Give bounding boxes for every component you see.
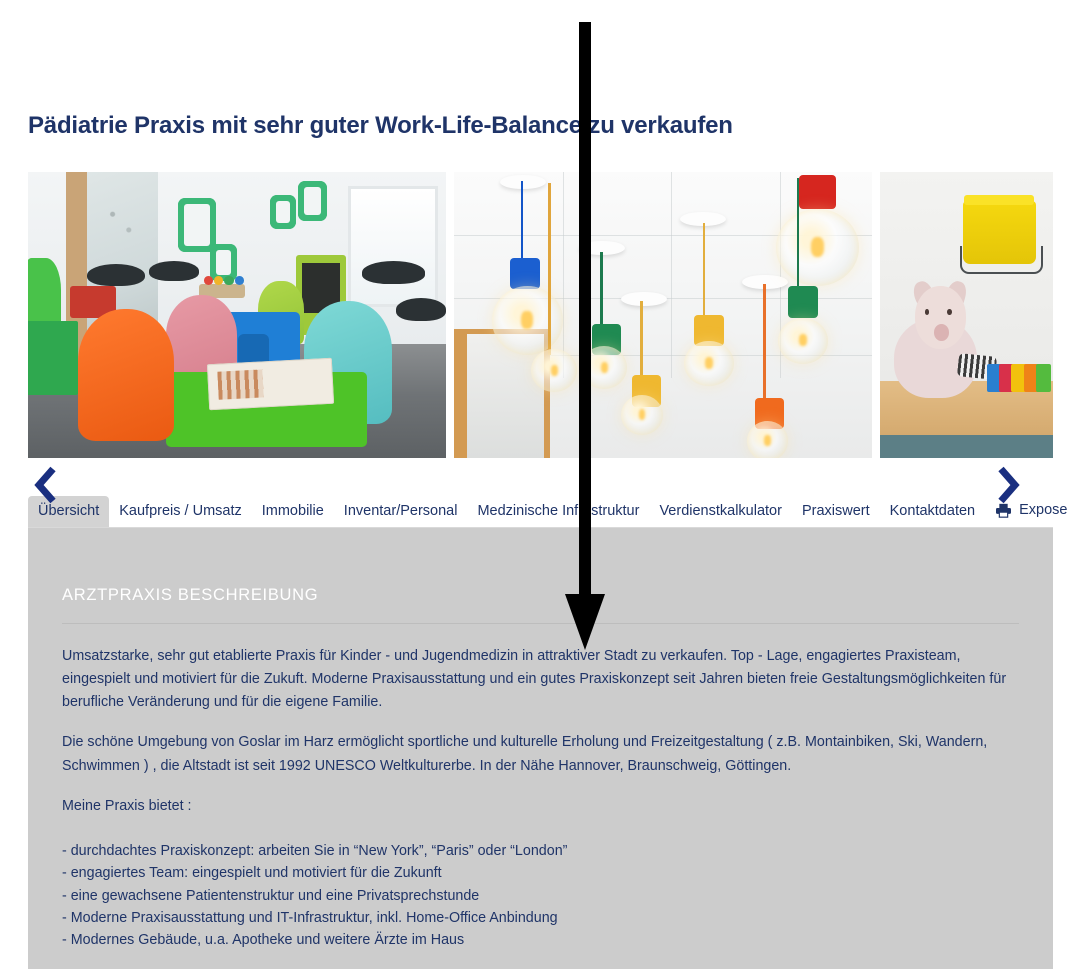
section-divider — [62, 623, 1019, 624]
list-item: - Moderne Praxisausstattung und IT-Infra… — [62, 907, 1022, 929]
description-paragraph-2: Die schöne Umgebung von Goslar im Harz e… — [62, 731, 1022, 777]
content-panel: ARZTPRAXIS BESCHREIBUNG Umsatzstarke, se… — [28, 528, 1053, 969]
tab-praxiswert[interactable]: Praxiswert — [792, 496, 880, 528]
pendant-lamps-photo — [454, 172, 872, 458]
tab-immobilie[interactable]: Immobilie — [252, 496, 334, 528]
description-lead-in: Meine Praxis bietet : — [62, 795, 1022, 818]
section-heading: ARZTPRAXIS BESCHREIBUNG — [62, 586, 318, 605]
list-item: - durchdachtes Praxiskonzept: arbeiten S… — [62, 840, 1022, 862]
page-title: Pädiatrie Praxis mit sehr guter Work-Lif… — [28, 112, 733, 140]
carousel-slide-3[interactable] — [880, 172, 1053, 458]
benefits-list: - durchdachtes Praxiskonzept: arbeiten S… — [62, 840, 1022, 951]
waiting-room-photo — [28, 172, 446, 458]
tab-kaufpreis-umsatz[interactable]: Kaufpreis / Umsatz — [109, 496, 252, 528]
description-paragraph-1: Umsatzstarke, sehr gut etablierte Praxis… — [62, 645, 1022, 714]
list-item: - engagiertes Team: eingespielt und moti… — [62, 862, 1022, 884]
carousel-next-icon[interactable] — [990, 463, 1024, 507]
carousel-slide-1[interactable] — [28, 172, 446, 458]
tab-inventar-personal[interactable]: Inventar/Personal — [334, 496, 468, 528]
carousel-prev-icon[interactable] — [30, 463, 64, 507]
tab-kontaktdaten[interactable]: Kontaktdaten — [880, 496, 985, 528]
list-item: - eine gewachsene Patientenstruktur und … — [62, 885, 1022, 907]
description-body: Umsatzstarke, sehr gut etablierte Praxis… — [62, 645, 1022, 951]
carousel-slide-2[interactable] — [454, 172, 872, 458]
plush-pig-photo — [880, 172, 1053, 458]
tab-medizinische-infrastruktur[interactable]: Medzinische Infrastruktur — [467, 496, 649, 528]
list-item: - Modernes Gebäude, u.a. Apotheke und we… — [62, 929, 1022, 951]
image-carousel — [28, 172, 1053, 458]
tab-verdienstkalkulator[interactable]: Verdienstkalkulator — [649, 496, 792, 528]
tab-expose-label: Expose — [1019, 503, 1067, 518]
tab-bar: Übersicht Kaufpreis / Umsatz Immobilie I… — [28, 492, 1053, 528]
